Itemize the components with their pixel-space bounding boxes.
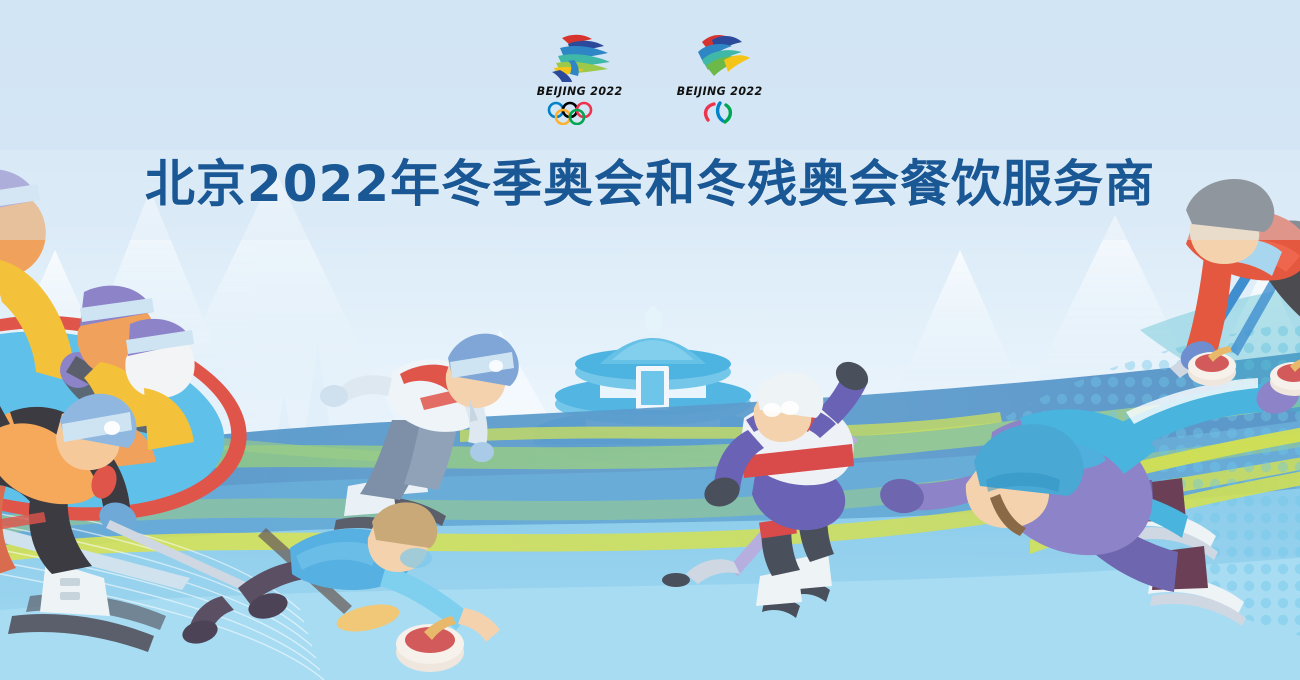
paralympic-agitos-icon: [684, 101, 756, 125]
beijing-2022-banner: BEIJING 2022 BEIJING 20: [0, 0, 1300, 680]
flying-high-emblem-icon: [672, 30, 768, 82]
winter-dream-emblem-icon: [532, 30, 628, 82]
olympic-rings-icon: [544, 101, 616, 125]
beijing-2022-olympic-emblem: BEIJING 2022: [532, 30, 628, 125]
paralympic-wordmark: BEIJING 2022: [677, 84, 763, 98]
beijing-2022-paralympic-emblem: BEIJING 2022: [672, 30, 768, 125]
page-title: 北京2022年冬季奥会和冬残奥会餐饮服务商: [0, 144, 1300, 216]
olympic-wordmark: BEIJING 2022: [537, 84, 623, 98]
emblem-row: BEIJING 2022 BEIJING 20: [0, 30, 1300, 125]
